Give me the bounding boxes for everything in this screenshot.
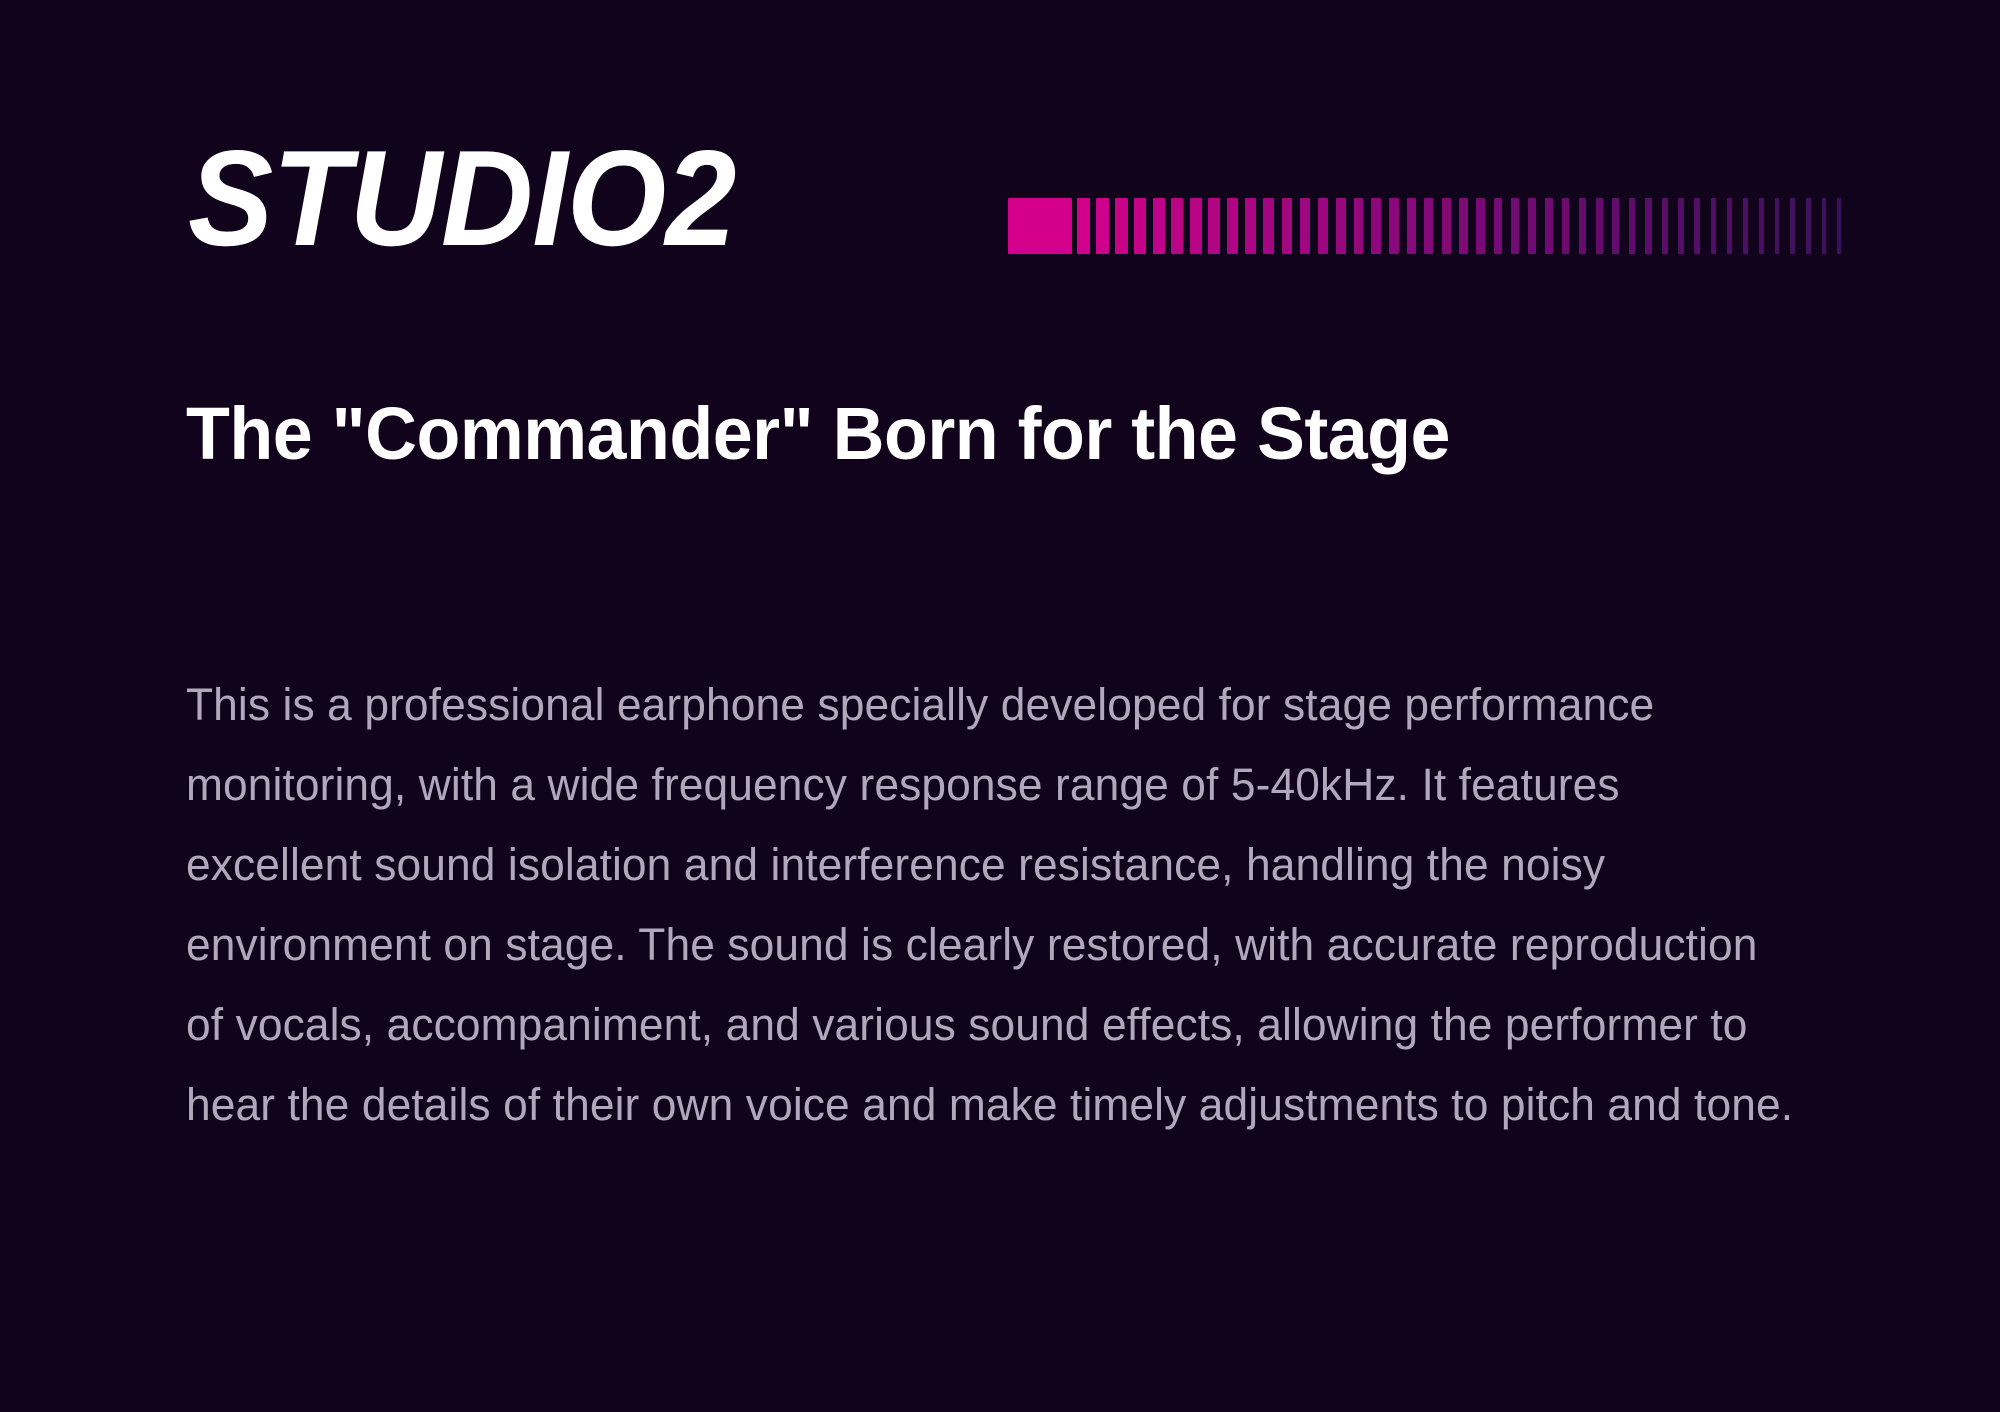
level-meter-segment — [1562, 198, 1569, 254]
brand-header: STUDIO2 — [188, 128, 1848, 288]
level-meter-segment — [1424, 198, 1433, 254]
level-meter-segment — [1134, 198, 1146, 254]
product-feature-slide: STUDIO2 The "Commander" Born for the Sta… — [0, 0, 2000, 1412]
level-meter-segment — [1476, 198, 1485, 254]
level-meter-segment — [1596, 198, 1603, 254]
level-meter-icon — [1008, 198, 1838, 254]
level-meter-segment — [1711, 198, 1717, 254]
level-meter-segment — [1612, 198, 1619, 254]
level-meter-segment — [1727, 198, 1732, 254]
level-meter-segment — [1694, 198, 1700, 254]
page-title: The "Commander" Born for the Stage — [186, 392, 1450, 476]
level-meter-segment — [1318, 198, 1328, 254]
level-meter-segment — [1354, 198, 1364, 254]
level-meter-segment — [1579, 198, 1586, 254]
level-meter-segment — [1153, 198, 1165, 254]
level-meter-segment — [1775, 198, 1780, 254]
level-meter-segment — [1743, 198, 1748, 254]
level-meter-segment — [1645, 198, 1651, 254]
level-meter-segment — [1008, 198, 1072, 254]
level-meter-segment — [1115, 198, 1128, 254]
level-meter-segment — [1678, 198, 1684, 254]
level-meter-segment — [1336, 198, 1346, 254]
level-meter-segment — [1494, 198, 1502, 254]
level-meter-segment — [1790, 198, 1795, 254]
level-meter-segment — [1389, 198, 1399, 254]
level-meter-segment — [1545, 198, 1553, 254]
level-meter-segment — [1629, 198, 1636, 254]
level-meter-segment — [1528, 198, 1536, 254]
level-meter-segment — [1077, 198, 1090, 254]
level-meter-segment — [1171, 198, 1183, 254]
level-meter-segment — [1208, 198, 1220, 254]
level-meter-segment — [1407, 198, 1416, 254]
brand-wordmark: STUDIO2 — [188, 128, 735, 268]
level-meter-segment — [1263, 198, 1274, 254]
level-meter-segment — [1245, 198, 1256, 254]
level-meter-segment — [1096, 198, 1109, 254]
level-meter-segment — [1662, 198, 1668, 254]
level-meter-segment — [1511, 198, 1519, 254]
product-description: This is a professional earphone speciall… — [186, 665, 1801, 1145]
level-meter-segment — [1459, 198, 1468, 254]
level-meter-segment — [1282, 198, 1293, 254]
level-meter-segment — [1442, 198, 1451, 254]
level-meter-segment — [1227, 198, 1238, 254]
level-meter-segment — [1371, 198, 1381, 254]
level-meter-segment — [1837, 198, 1841, 254]
level-meter-segment — [1759, 198, 1764, 254]
level-meter-segment — [1806, 198, 1810, 254]
level-meter-segment — [1190, 198, 1202, 254]
level-meter-segment — [1822, 198, 1826, 254]
level-meter-segment — [1300, 198, 1311, 254]
